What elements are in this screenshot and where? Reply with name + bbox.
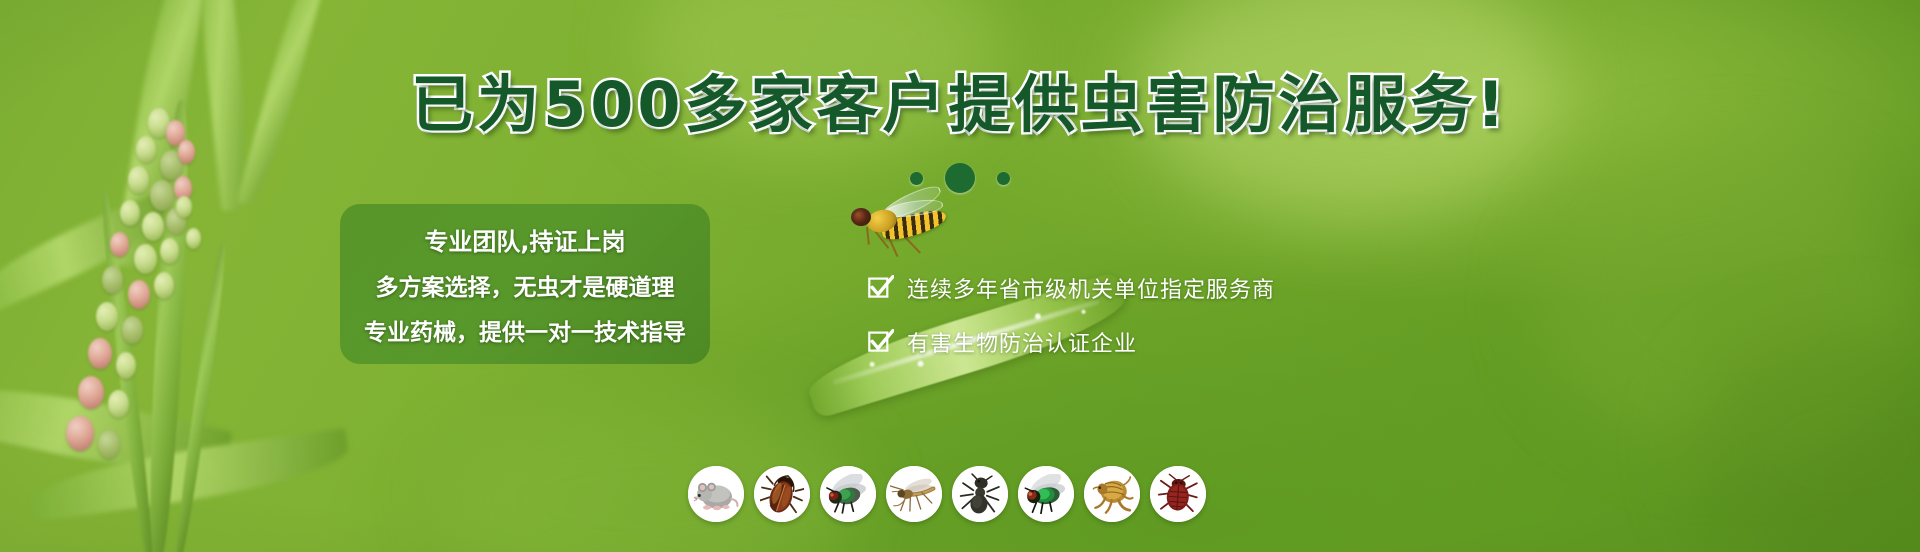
vignette-overlay: [0, 0, 1920, 552]
pest-control-banner: 已为500多家客户提供虫害防治服务! 专业团队,持证上岗 多方案选择，无虫才是硬…: [0, 0, 1920, 552]
